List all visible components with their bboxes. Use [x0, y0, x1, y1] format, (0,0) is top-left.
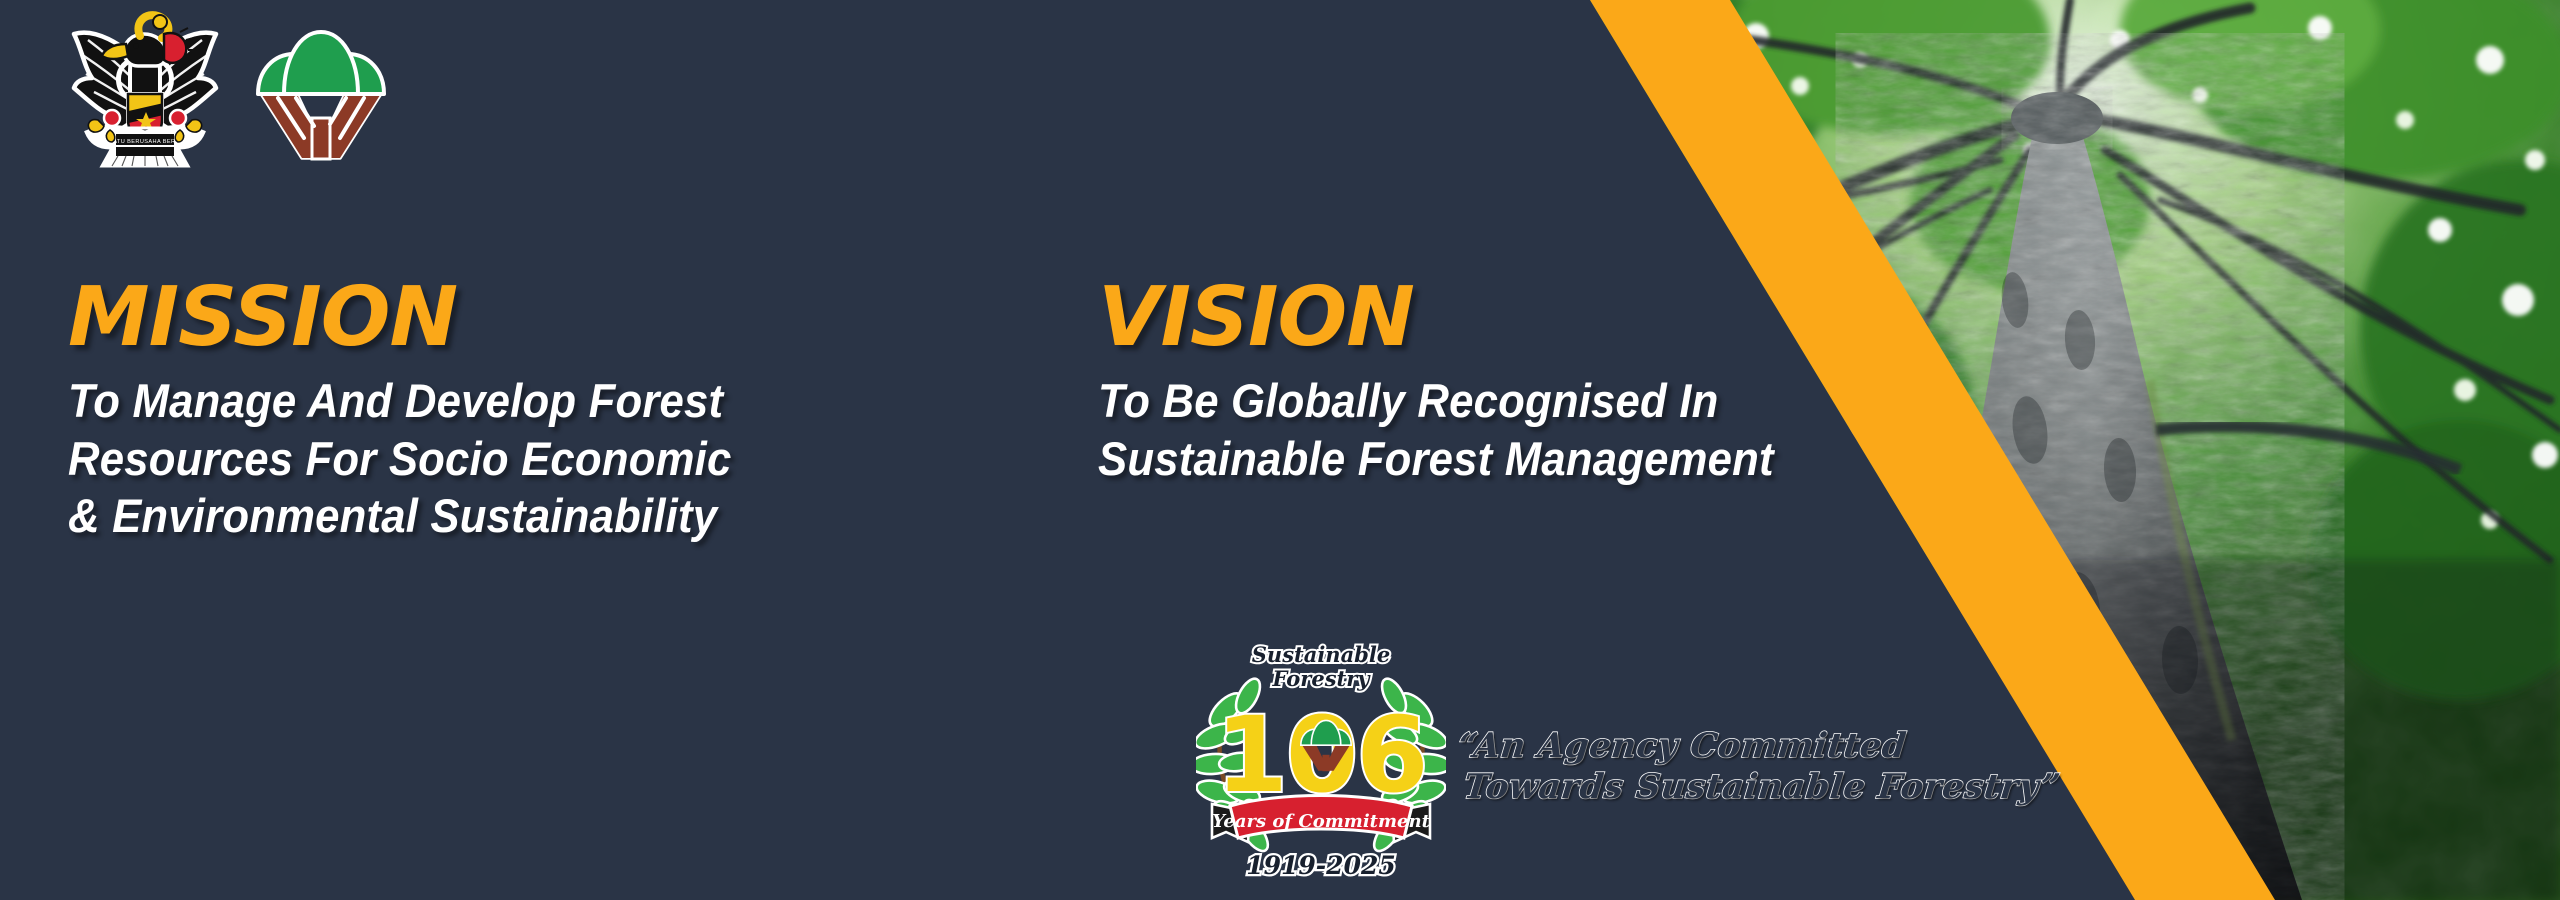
- svg-text:Sustainable: Sustainable: [1252, 642, 1390, 667]
- anniversary-106-badge-icon: Sustainable Forestry 106 Years of Commit…: [1196, 636, 1446, 884]
- mission-block: MISSION To Manage And Develop Forest Res…: [68, 278, 708, 544]
- mission-line-2: Resources For Socio Economic: [68, 430, 663, 487]
- vision-line-2: Sustainable Forest Management: [1098, 430, 1693, 487]
- vision-text: To Be Globally Recognised In Sustainable…: [1098, 372, 1693, 487]
- tagline-line-1: “An Agency Committed: [1456, 726, 2067, 767]
- sarawak-state-crest-icon: BERSATU BERUSAHA BERBAKTI: [60, 8, 230, 168]
- vision-block: VISION To Be Globally Recognised In Sust…: [1098, 278, 1738, 487]
- mission-line-3: & Environmental Sustainability: [68, 487, 663, 544]
- vision-line-1: To Be Globally Recognised In: [1098, 372, 1693, 429]
- badge-years: 1919-2025: [1246, 851, 1396, 880]
- mission-line-1: To Manage And Develop Forest: [68, 372, 663, 429]
- vision-heading: VISION: [1098, 278, 1738, 358]
- svg-text:Forestry: Forestry: [1272, 666, 1372, 691]
- badge-top-text: Sustainable Forestry: [1252, 642, 1390, 691]
- mission-vision-banner: BERSATU BERUSAHA BERBAKTI: [0, 0, 2560, 900]
- tagline-line-2: Towards Sustainable Forestry”: [1452, 767, 2063, 808]
- logo-row: BERSATU BERUSAHA BERBAKTI: [60, 8, 386, 168]
- mission-heading: MISSION: [68, 278, 708, 358]
- tagline: “An Agency Committed Towards Sustainable…: [1452, 726, 2067, 809]
- mission-text: To Manage And Develop Forest Resources F…: [68, 372, 663, 544]
- anniversary-badge-row: Sustainable Forestry 106 Years of Commit…: [1196, 636, 2062, 884]
- forestry-tree-logo-icon: [256, 26, 386, 161]
- badge-ribbon-text: Years of Commitment: [1212, 811, 1430, 832]
